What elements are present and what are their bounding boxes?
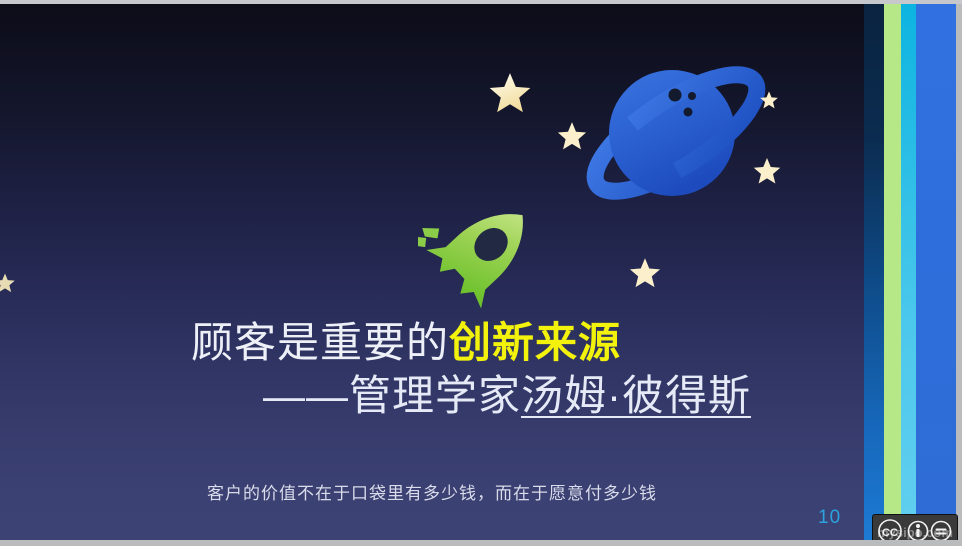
attribution-prefix: ——管理学家	[263, 372, 521, 419]
headline-highlight-text: 创新来源	[449, 319, 621, 366]
star-icon	[556, 120, 588, 152]
stripe-blue	[916, 4, 956, 540]
headline-line-1: 顾客是重要的创新来源	[0, 322, 864, 365]
headline-line-2: ——管理学家汤姆·彼得斯	[150, 375, 864, 418]
headline-plain-text: 顾客是重要的	[191, 319, 449, 366]
slide-window: 顾客是重要的创新来源 ——管理学家汤姆·彼得斯 客户的价值不在于口袋里有多少钱，…	[0, 0, 962, 546]
subtitle-text: 客户的价值不在于口袋里有多少钱，而在于愿意付多少钱	[0, 479, 864, 504]
ringed-planet-icon	[576, 38, 776, 228]
page-number: 10	[818, 507, 841, 529]
star-icon	[487, 70, 533, 116]
window-right-border	[956, 4, 962, 540]
stripe-green	[884, 4, 901, 540]
stripe-cyan	[901, 4, 916, 540]
window-bottom-border	[0, 540, 962, 546]
decorative-stripes	[864, 4, 956, 540]
attribution-name: 汤姆·彼得斯	[521, 372, 751, 419]
headline-block: 顾客是重要的创新来源 ——管理学家汤姆·彼得斯	[0, 322, 864, 418]
star-icon	[0, 272, 16, 294]
star-icon	[752, 156, 782, 186]
svg-text:CC: CC	[882, 527, 898, 539]
star-icon	[628, 256, 662, 290]
rocket-icon	[418, 196, 548, 308]
stripe-navy-blue	[864, 4, 884, 540]
slide-canvas: 顾客是重要的创新来源 ——管理学家汤姆·彼得斯 客户的价值不在于口袋里有多少钱，…	[0, 4, 864, 540]
star-icon	[759, 90, 779, 110]
